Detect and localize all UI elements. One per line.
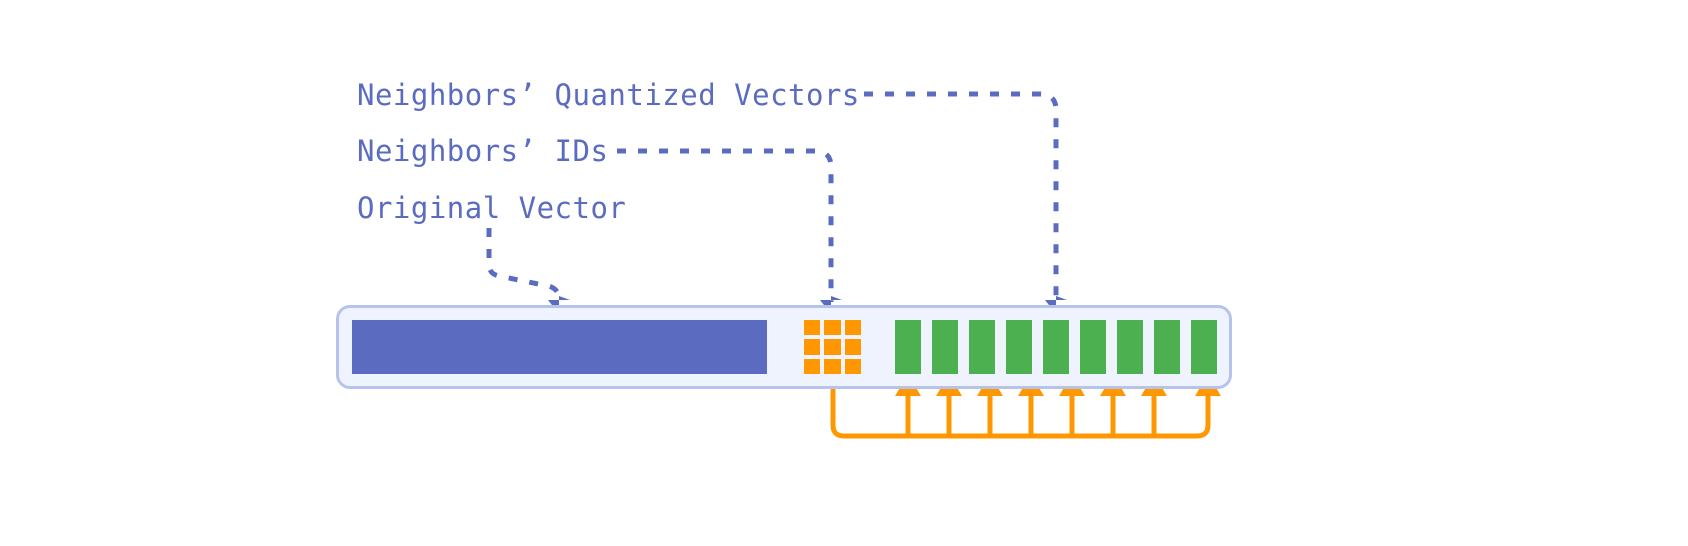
grid-cell-6 bbox=[845, 339, 861, 354]
neighbors-quantized-vectors-bars bbox=[895, 320, 1217, 374]
neighbor-bar-1[interactable] bbox=[895, 320, 921, 374]
neighbor-bar-7[interactable] bbox=[1117, 320, 1143, 374]
neighbors-ids-grid[interactable] bbox=[804, 320, 861, 374]
grid-cell-4 bbox=[804, 339, 820, 354]
grid-cell-5 bbox=[824, 339, 840, 354]
grid-cell-3 bbox=[845, 320, 861, 335]
grid-cell-9 bbox=[845, 359, 861, 374]
connector-neighbors-ids bbox=[617, 151, 831, 302]
connector-layer bbox=[0, 0, 1688, 546]
neighbor-bar-6[interactable] bbox=[1080, 320, 1106, 374]
neighbor-bar-4[interactable] bbox=[1006, 320, 1032, 374]
connector-neighbors-quantized-vectors bbox=[864, 94, 1056, 302]
neighbor-bar-5[interactable] bbox=[1043, 320, 1069, 374]
grid-cell-8 bbox=[824, 359, 840, 374]
connector-original-vector bbox=[489, 228, 559, 302]
neighbor-bar-2[interactable] bbox=[932, 320, 958, 374]
neighbor-bar-3[interactable] bbox=[969, 320, 995, 374]
grid-cell-1 bbox=[804, 320, 820, 335]
grid-cell-2 bbox=[824, 320, 840, 335]
diagram-canvas: Neighbors’ Quantized Vectors Neighbors’ … bbox=[0, 0, 1688, 546]
grid-cell-7 bbox=[804, 359, 820, 374]
original-vector-block[interactable] bbox=[352, 320, 767, 374]
neighbor-bar-8[interactable] bbox=[1154, 320, 1180, 374]
neighbor-bar-9[interactable] bbox=[1191, 320, 1217, 374]
